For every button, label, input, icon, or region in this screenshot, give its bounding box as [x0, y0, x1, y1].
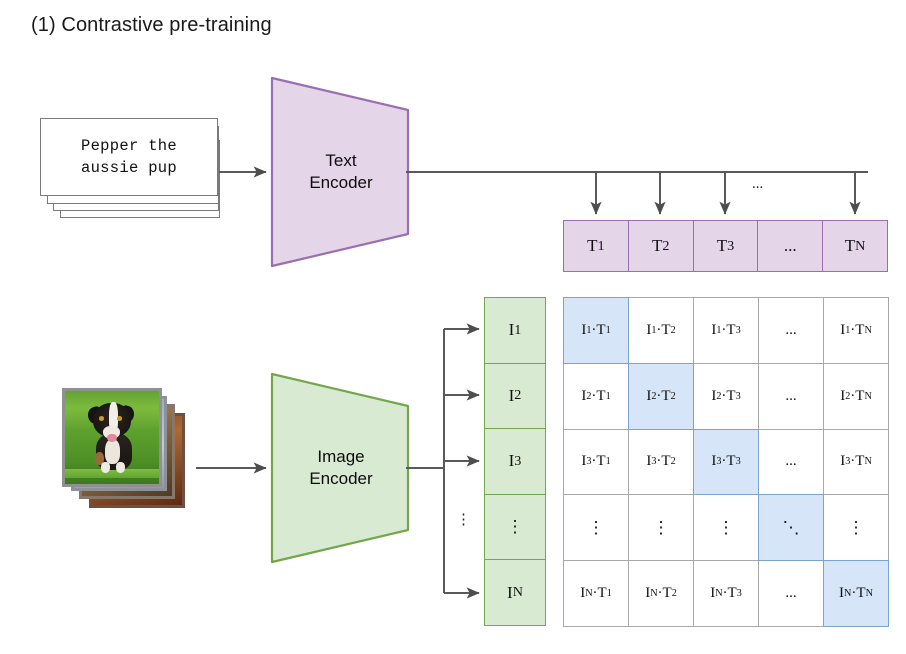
similarity-cell: I3·TN [823, 429, 889, 496]
similarity-cell: I3·T2 [628, 429, 694, 496]
similarity-cell: I3·T3 [693, 429, 759, 496]
similarity-cell: I2·T1 [563, 363, 629, 430]
puppy-eye-right [117, 416, 123, 421]
image-embedding-cell: I3 [484, 428, 546, 495]
puppy-paw-right [116, 462, 125, 473]
text-encoder-block[interactable]: Text Encoder [270, 76, 412, 268]
photo-front-puppy [62, 388, 162, 487]
similarity-cell: ⋮ [693, 494, 759, 561]
similarity-cell: ⋮ [823, 494, 889, 561]
text-encoder-label-line2: Encoder [309, 172, 372, 194]
image-encoder-block[interactable]: Image Encoder [270, 372, 412, 564]
image-encoder-label-line1: Image [309, 446, 372, 468]
similarity-cell: I2·T2 [628, 363, 694, 430]
similarity-cell: IN·T1 [563, 560, 629, 627]
image-encoder-label: Image Encoder [309, 446, 372, 490]
similarity-cell: ... [758, 363, 824, 430]
text-caption: Pepper the aussie pup [81, 135, 177, 179]
similarity-cell: ... [758, 560, 824, 627]
grass-highlight [65, 469, 159, 478]
text-embedding-cell: ... [757, 220, 823, 272]
similarity-cell: I1·TN [823, 297, 889, 364]
text-embedding-cell: T1 [563, 220, 629, 272]
similarity-cell: ⋮ [628, 494, 694, 561]
text-embedding-cell: T3 [693, 220, 759, 272]
similarity-cell: IN·T3 [693, 560, 759, 627]
similarity-cell: IN·TN [823, 560, 889, 627]
similarity-cell: ... [758, 429, 824, 496]
image-input-stack [62, 388, 194, 510]
similarity-cell: ... [758, 297, 824, 364]
text-bus-ellipsis: ... [752, 176, 763, 193]
image-bus-ellipsis: ⋮ [456, 510, 471, 529]
puppy-tongue [107, 434, 116, 442]
text-embedding-row: T1T2T3...TN [563, 220, 888, 272]
image-encoder-label-line2: Encoder [309, 468, 372, 490]
diagram-canvas: (1) Contrastive pre-training Pepper the … [0, 0, 906, 654]
similarity-cell: ⋱ [758, 494, 824, 561]
puppy-scene [65, 391, 159, 484]
image-embedding-cell: I2 [484, 363, 546, 430]
similarity-cell: I2·T3 [693, 363, 759, 430]
text-embedding-cell: TN [822, 220, 888, 272]
puppy-chest [105, 439, 120, 463]
similarity-cell: I1·T1 [563, 297, 629, 364]
text-card-front: Pepper the aussie pup [40, 118, 218, 196]
similarity-cell: I1·T2 [628, 297, 694, 364]
text-input-stack: Pepper the aussie pup [40, 118, 255, 228]
text-encoder-label: Text Encoder [309, 150, 372, 194]
similarity-cell: IN·T2 [628, 560, 694, 627]
puppy-paw-left [101, 462, 110, 473]
image-embedding-column: I1I2I3⋮IN [484, 297, 546, 626]
similarity-cell: I2·TN [823, 363, 889, 430]
similarity-cell: I1·T3 [693, 297, 759, 364]
page-title: (1) Contrastive pre-training [31, 14, 272, 37]
similarity-cell: I3·T1 [563, 429, 629, 496]
text-encoder-label-line1: Text [309, 150, 372, 172]
similarity-cell: ⋮ [563, 494, 629, 561]
text-embedding-cell: T2 [628, 220, 694, 272]
image-embedding-cell: I1 [484, 297, 546, 364]
image-embedding-cell: IN [484, 559, 546, 626]
similarity-matrix: I1·T1I1·T2I1·T3...I1·TNI2·T1I2·T2I2·T3..… [563, 297, 888, 626]
image-embedding-cell: ⋮ [484, 494, 546, 561]
